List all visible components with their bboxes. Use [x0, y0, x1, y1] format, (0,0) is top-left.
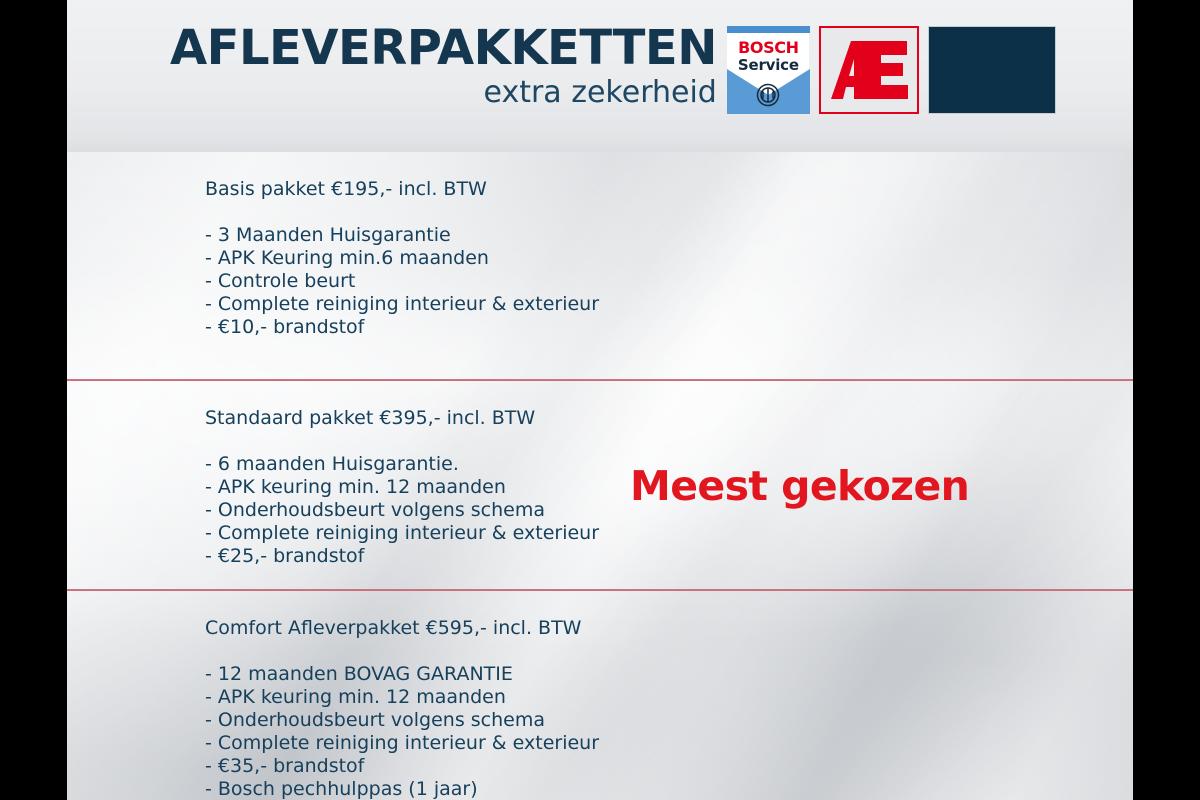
bosch-service-label: Service — [727, 56, 810, 74]
list-item: - Onderhoudsbeurt volgens schema — [205, 709, 765, 731]
page-subtitle: extra zekerheid — [170, 77, 717, 109]
list-item: - APK Keuring min.6 maanden — [205, 247, 765, 269]
list-item: - €35,- brandstof — [205, 755, 765, 777]
list-item: - Complete reiniging interieur & exterie… — [205, 522, 765, 544]
list-item: - €10,- brandstof — [205, 316, 765, 338]
package-section-basis: Basis pakket €195,- incl. BTW - 3 Maande… — [67, 152, 1133, 380]
list-item: - 12 maanden BOVAG GARANTIE — [205, 663, 765, 685]
wordmark: AFLEVERPAKKETTEN extra zekerheid — [170, 24, 721, 108]
bosch-armature-icon — [756, 83, 780, 107]
list-item: - Bosch pechhulppas (1 jaar) — [205, 778, 765, 800]
package-section-comfort: Comfort Afleverpakket €595,- incl. BTW -… — [67, 591, 1133, 800]
package-body: Comfort Afleverpakket €595,- incl. BTW -… — [205, 617, 765, 800]
list-item: - APK keuring min. 12 maanden — [205, 686, 765, 708]
bosch-top-bar — [727, 26, 810, 33]
package-feature-list: - 3 Maanden Huisgarantie - APK Keuring m… — [205, 224, 765, 338]
package-title: Standaard pakket €395,- incl. BTW — [205, 407, 765, 431]
bosch-wordmark: BOSCH — [727, 38, 810, 57]
package-title: Basis pakket €195,- incl. BTW — [205, 178, 765, 202]
package-title: Comfort Afleverpakket €595,- incl. BTW — [205, 617, 765, 641]
header-band: AFLEVERPAKKETTEN extra zekerheid BOSCH S… — [67, 0, 1133, 152]
list-item: - Controle beurt — [205, 270, 765, 292]
package-feature-list: - 12 maanden BOVAG GARANTIE - APK keurin… — [205, 663, 765, 800]
header-content: AFLEVERPAKKETTEN extra zekerheid BOSCH S… — [170, 24, 1100, 132]
list-item: - Complete reiniging interieur & exterie… — [205, 732, 765, 754]
logo-strip: BOSCH Service — [727, 24, 1056, 114]
bosch-service-logo: BOSCH Service — [727, 26, 810, 114]
navy-block — [928, 26, 1056, 114]
ae-monogram-icon — [827, 39, 911, 101]
ae-logo — [819, 26, 919, 114]
list-item: - 3 Maanden Huisgarantie — [205, 224, 765, 246]
package-body: Basis pakket €195,- incl. BTW - 3 Maande… — [205, 178, 765, 339]
page-title: AFLEVERPAKKETTEN — [170, 24, 717, 73]
list-item: - Complete reiniging interieur & exterie… — [205, 293, 765, 315]
package-section-standaard: Standaard pakket €395,- incl. BTW - 6 ma… — [67, 381, 1133, 590]
slide-frame: AFLEVERPAKKETTEN extra zekerheid BOSCH S… — [0, 0, 1200, 800]
most-chosen-badge: Meest gekozen — [630, 466, 969, 507]
list-item: - €25,- brandstof — [205, 545, 765, 567]
slide-canvas: AFLEVERPAKKETTEN extra zekerheid BOSCH S… — [67, 0, 1133, 800]
